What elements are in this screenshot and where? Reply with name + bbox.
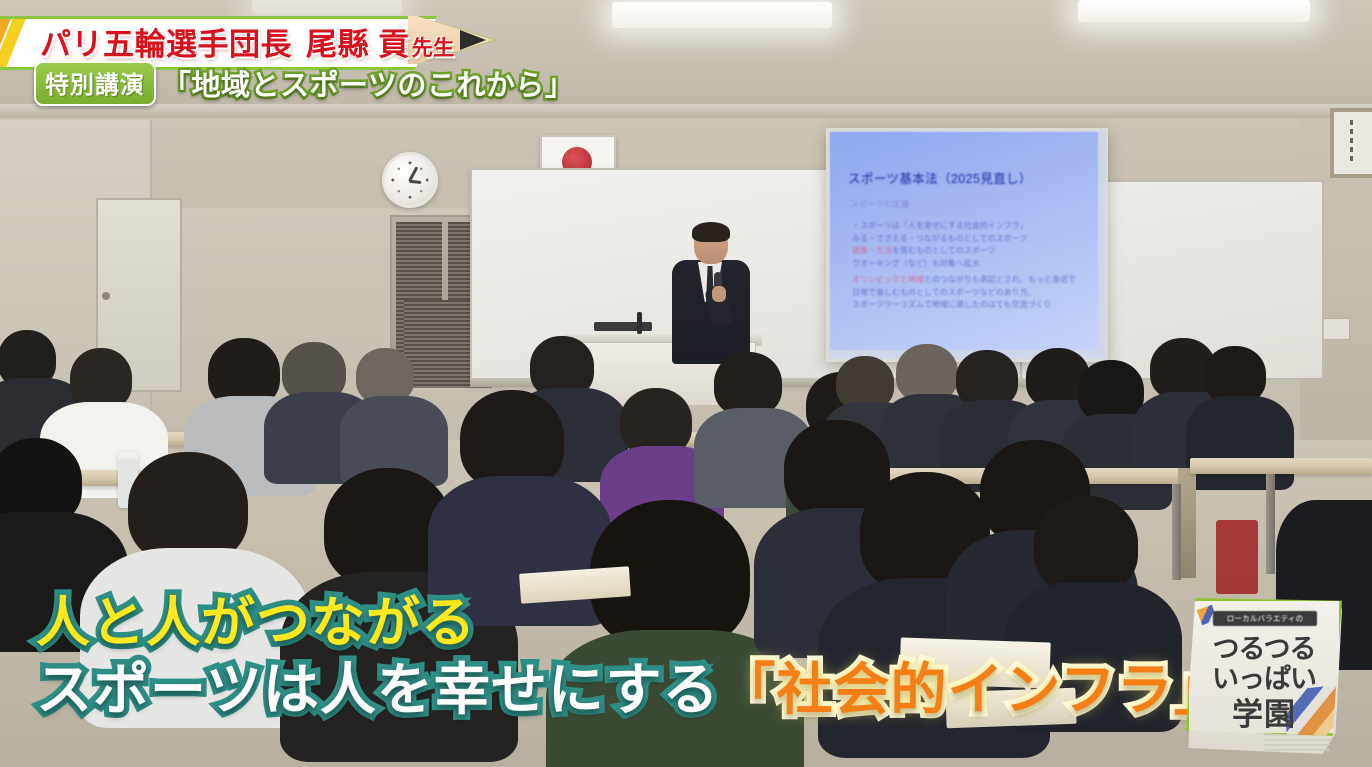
podium-equipment xyxy=(594,322,652,331)
slide-body-line-3: 健康・交流を育むものとしてのスポーツ xyxy=(852,245,1088,258)
telop-line-2-orange: 「社会的インフラ」 xyxy=(719,658,1230,722)
telop-line-2: スポーツは人を幸せにする 「社会的インフラ」 xyxy=(36,658,1196,722)
door-knob-icon xyxy=(102,292,110,300)
logo-card: ローカルバラエティの つるつる いっぱい 学園 xyxy=(1186,598,1342,736)
banner-text: パリ五輪選手団長 尾縣 貢 先生 xyxy=(40,22,455,60)
person-head xyxy=(1078,360,1144,422)
speaker-hand xyxy=(712,286,726,302)
person-head xyxy=(460,390,564,490)
lecture-title: 「地域とスポーツのこれから」 xyxy=(162,62,574,104)
slide-body2-line-3: スポーツツーリズムで地域に適したのはても交流づくり xyxy=(852,299,1090,312)
slide-title: スポーツ基本法（2025見直し） xyxy=(848,168,1088,187)
pencil-tip-lead xyxy=(460,30,486,50)
telop-line-1: 人と人がつながる xyxy=(36,592,1196,654)
screenshot-stage: スポーツ基本法（2025見直し） スポーツの定義 ・スポーツは「人を幸せにする社… xyxy=(0,0,1372,767)
chair xyxy=(1216,520,1258,594)
audience-person xyxy=(1196,346,1284,466)
slide-body-line-3-rest: を育むものとしてのスポーツ xyxy=(892,246,996,255)
slide-body: ・スポーツは「人を幸せにする社会的インフラ」 みる・ささえる・つながるものとして… xyxy=(852,220,1088,270)
microphone-stand xyxy=(637,312,642,334)
slide-body2-line-2: 日常で楽しむものとしてのスポーツなどのあり方、 xyxy=(852,287,1090,300)
desk-leg xyxy=(1266,474,1275,574)
program-logo: ローカルバラエティの つるつる いっぱい 学園 xyxy=(1178,594,1348,760)
special-lecture-badge: 特別講演 xyxy=(34,61,156,106)
slide-body2-line-1-rest: とのつながりも表記とされ、もっと身近で xyxy=(924,275,1076,284)
banner-role-label: パリ五輪選手団長 xyxy=(40,19,292,64)
telop-line-2-white: スポーツは人を幸せにする xyxy=(36,658,719,722)
slide-body-highlight: 健康・交流 xyxy=(852,246,892,255)
lecture-subheader: 特別講演 「地域とスポーツのこれから」 xyxy=(34,64,574,102)
slide-body-second-block: オリンピックと地域とのつながりも表記とされ、もっと身近で 日常で楽しむものとして… xyxy=(852,274,1090,312)
wall-outlet xyxy=(1322,318,1350,340)
audience-person xyxy=(350,348,438,468)
desk xyxy=(1190,458,1372,474)
ceiling-light xyxy=(612,2,832,28)
ceiling-light xyxy=(252,0,402,14)
speaker-figure xyxy=(668,224,752,364)
ceiling-light xyxy=(1078,0,1310,22)
slide-body-line-1: ・スポーツは「人を幸せにする社会的インフラ」 xyxy=(852,220,1088,233)
person-head xyxy=(70,348,132,410)
bottom-telop: 人と人がつながる スポーツは人を幸せにする 「社会的インフラ」 xyxy=(36,592,1196,722)
wall-clock-icon xyxy=(382,152,438,208)
banner-speaker: 尾縣 貢 先生 xyxy=(306,19,455,64)
slide-body-line-4: ウオーキング（など）も対象へ拡大 xyxy=(852,258,1088,271)
slide-body2-line-1: オリンピックと地域とのつながりも表記とされ、もっと身近で xyxy=(852,274,1090,287)
clock-ticks xyxy=(390,160,430,200)
person-body xyxy=(1186,396,1294,490)
projection-screen: スポーツ基本法（2025見直し） スポーツの定義 ・スポーツは「人を幸せにする社… xyxy=(830,132,1098,350)
banner-speaker-suffix: 先生 xyxy=(412,32,455,62)
logo-line-3: 学園 xyxy=(1189,689,1339,734)
person-head xyxy=(714,352,782,416)
logo-header-label: ローカルバラエティの xyxy=(1213,611,1317,626)
banner-speaker-name: 尾縣 貢 xyxy=(306,19,410,64)
desk-leg xyxy=(1172,484,1181,580)
slide-body2-highlight: オリンピックと地域 xyxy=(852,275,924,284)
speaker-hair xyxy=(692,222,730,242)
slide-body-line-2: みる・ささえる・つながるものとしてのスポーツ xyxy=(852,233,1088,246)
frame-inner-text xyxy=(1350,120,1353,164)
slide-subtitle: スポーツの定義 xyxy=(850,198,1086,210)
framed-picture xyxy=(1330,108,1372,178)
logo-paper-lines xyxy=(1264,734,1330,752)
person-head xyxy=(1034,496,1138,594)
